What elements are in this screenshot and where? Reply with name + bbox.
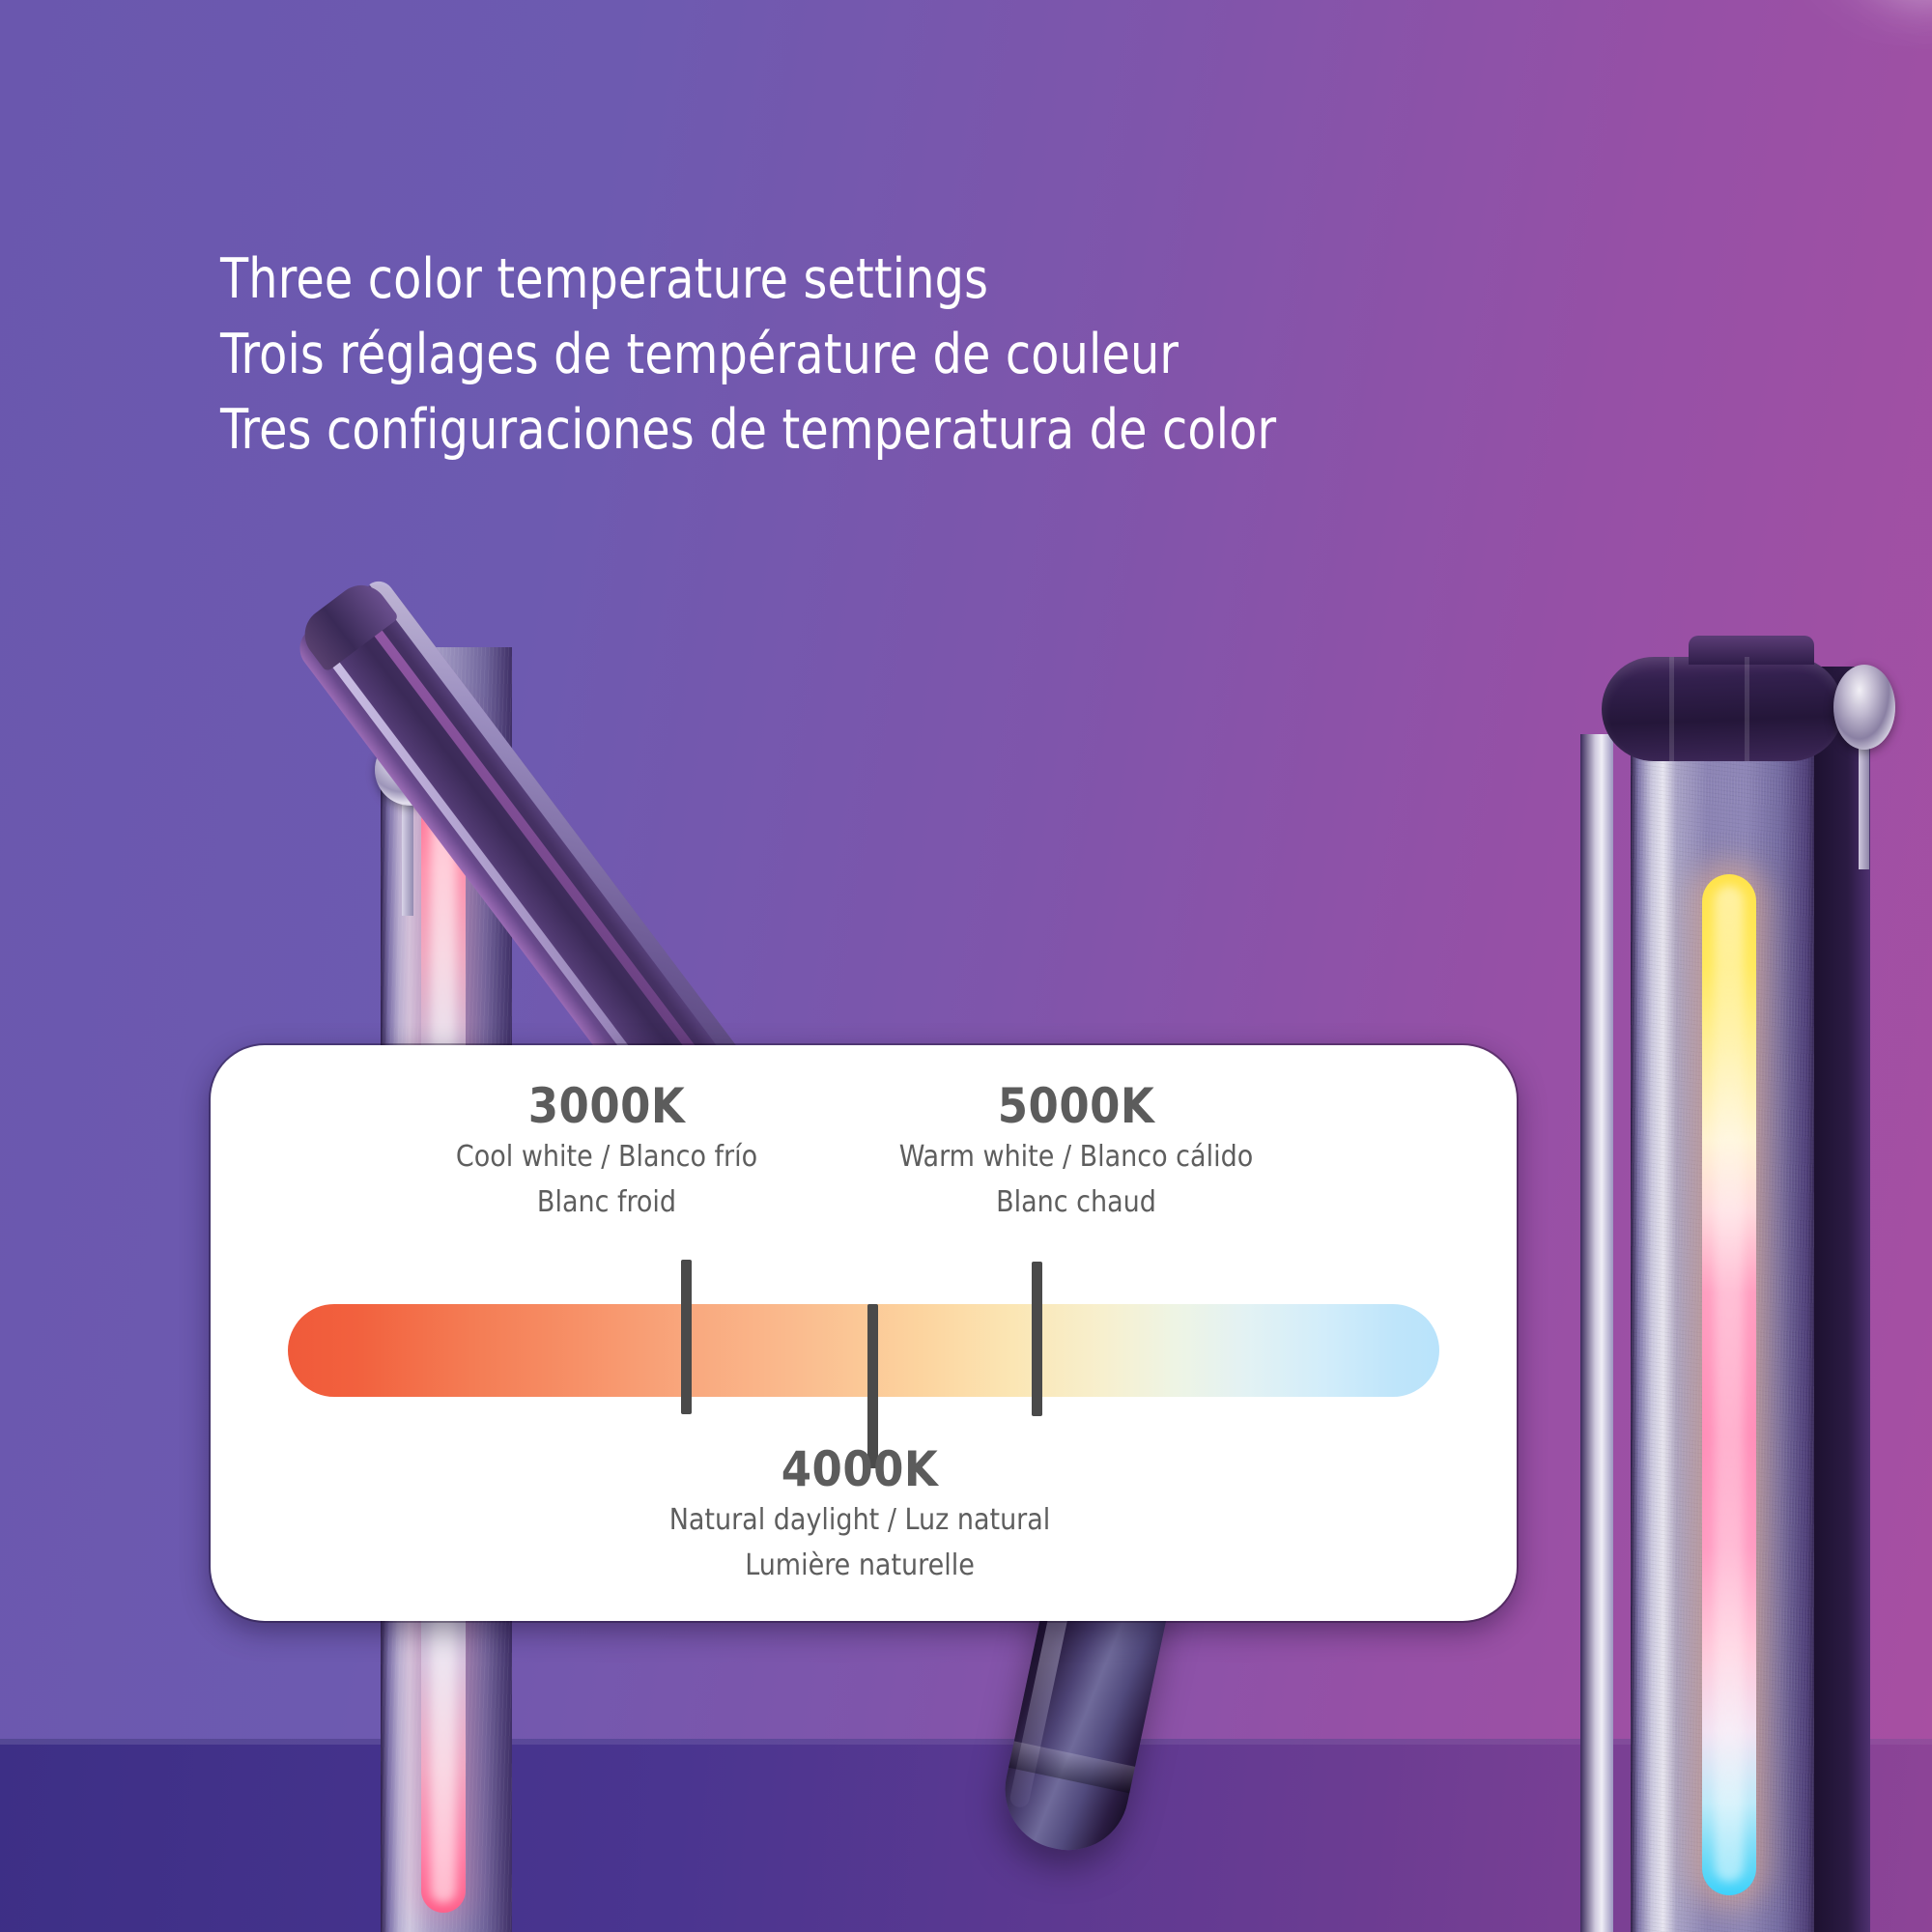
kelvin-desc-primary-5000k: Warm white / Blanco cálido — [873, 1134, 1279, 1179]
product-infographic: Three color temperature settings Trois r… — [0, 0, 1932, 1932]
kelvin-labels-top-row: 3000K Cool white / Blanco frío Blanc fro… — [211, 1078, 1517, 1225]
kelvin-value-3000k: 3000K — [404, 1078, 810, 1134]
kelvin-value-4000k: 4000K — [522, 1441, 1198, 1497]
lamp-right — [1575, 0, 1932, 1932]
lamp-right-knob-stem — [1859, 734, 1869, 869]
kelvin-desc-secondary-5000k: Blanc chaud — [873, 1179, 1279, 1225]
headline-line-spanish: Tres configuraciones de temperatura de c… — [220, 392, 1276, 468]
headline: Three color temperature settings Trois r… — [220, 241, 1356, 468]
lamp-right-hinge — [1602, 657, 1843, 761]
kelvin-block-4000k: 4000K Natural daylight / Luz natural Lum… — [522, 1441, 1198, 1588]
kelvin-block-3000k: 3000K Cool white / Blanco frío Blanc fro… — [404, 1078, 810, 1225]
headline-line-french: Trois réglages de température de couleur — [220, 317, 1276, 392]
lamp-right-strip-core — [1715, 886, 1744, 1882]
lamp-right-pivot-knob — [1833, 665, 1895, 750]
tick-marker-5000k — [1032, 1262, 1042, 1416]
color-temperature-card: 3000K Cool white / Blanco frío Blanc fro… — [211, 1045, 1517, 1621]
tick-marker-3000k — [681, 1260, 692, 1414]
color-temperature-gradient-bar — [288, 1304, 1439, 1397]
kelvin-desc-secondary-3000k: Blanc froid — [404, 1179, 810, 1225]
kelvin-block-5000k: 5000K Warm white / Blanco cálido Blanc c… — [873, 1078, 1279, 1225]
kelvin-value-5000k: 5000K — [873, 1078, 1279, 1134]
kelvin-desc-primary-4000k: Natural daylight / Luz natural — [522, 1497, 1198, 1543]
kelvin-desc-primary-3000k: Cool white / Blanco frío — [404, 1134, 810, 1179]
lamp-right-post-rail — [1580, 734, 1613, 1932]
lamp-right-rgb-light-strip — [1702, 874, 1756, 1895]
headline-line-english: Three color temperature settings — [220, 241, 1276, 317]
kelvin-desc-secondary-4000k: Lumière naturelle — [522, 1543, 1198, 1588]
lamp-right-hinge-cap — [1689, 636, 1814, 665]
lamp-left-knob-stem — [402, 800, 413, 916]
